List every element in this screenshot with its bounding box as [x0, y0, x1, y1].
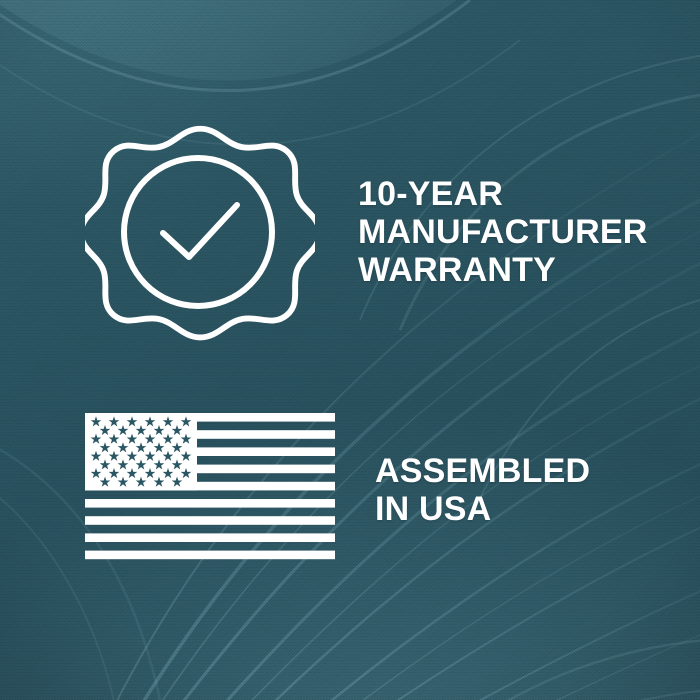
usa-flag-icon-slot	[80, 405, 340, 575]
assembled-in-usa-text: ASSEMBLED IN USA	[375, 452, 590, 528]
check-badge-icon-slot	[80, 112, 320, 352]
feature-assembled-in-usa: ASSEMBLED IN USA	[80, 400, 680, 580]
feature-banner: 10-YEAR MANUFACTURER WARRANTY	[0, 0, 700, 700]
feature-warranty: 10-YEAR MANUFACTURER WARRANTY	[80, 112, 680, 352]
check-badge-icon	[85, 123, 315, 341]
warranty-text: 10-YEAR MANUFACTURER WARRANTY	[358, 175, 648, 289]
usa-flag-icon	[85, 413, 335, 568]
